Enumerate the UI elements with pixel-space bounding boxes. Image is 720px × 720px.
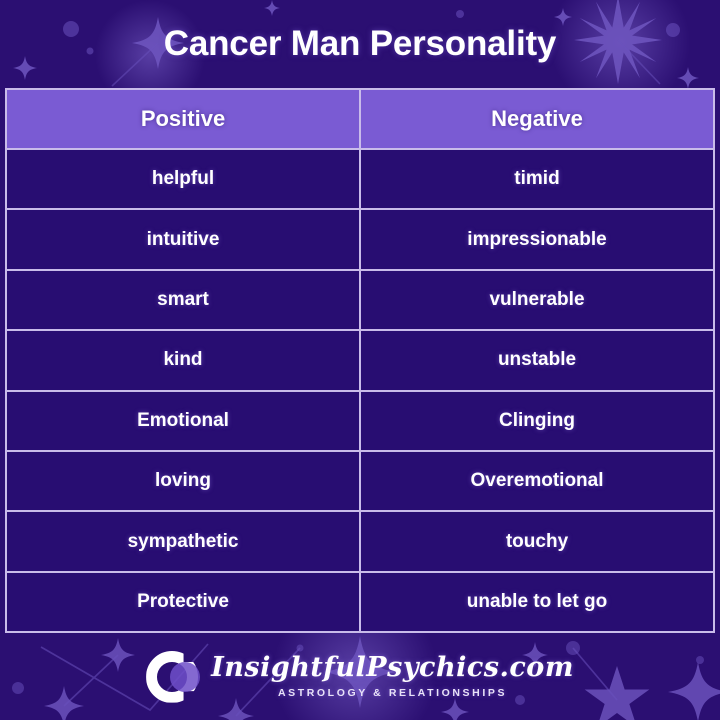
brand-wordmark: InsightfulPsychics.com xyxy=(211,654,574,681)
table-row: loving Overemotional xyxy=(6,451,714,511)
cell-positive: smart xyxy=(6,270,360,330)
cell-positive: kind xyxy=(6,330,360,390)
cell-positive: Emotional xyxy=(6,391,360,451)
infographic-root: Cancer Man Personality Positive Negative… xyxy=(0,0,720,720)
crescent-ring-logo-icon xyxy=(146,651,198,703)
table-row: Emotional Clinging xyxy=(6,391,714,451)
cell-positive: helpful xyxy=(6,149,360,209)
cell-negative: touchy xyxy=(360,511,714,571)
cell-negative: unstable xyxy=(360,330,714,390)
cell-negative: Clinging xyxy=(360,391,714,451)
table-row: Protective unable to let go xyxy=(6,572,714,632)
table-header-row: Positive Negative xyxy=(6,89,714,149)
cell-positive: Protective xyxy=(6,572,360,632)
cell-negative: Overemotional xyxy=(360,451,714,511)
title-bar: Cancer Man Personality xyxy=(0,0,720,88)
cell-negative: impressionable xyxy=(360,209,714,269)
table-row: intuitive impressionable xyxy=(6,209,714,269)
table-row: kind unstable xyxy=(6,330,714,390)
column-header-negative: Negative xyxy=(360,89,714,149)
cell-negative: vulnerable xyxy=(360,270,714,330)
footer-branding: InsightfulPsychics.com ASTROLOGY & RELAT… xyxy=(0,633,720,720)
page-title: Cancer Man Personality xyxy=(164,24,556,64)
cell-negative: timid xyxy=(360,149,714,209)
table-container: Positive Negative helpful timid intuitiv… xyxy=(0,88,720,633)
brand-tagline: ASTROLOGY & RELATIONSHIPS xyxy=(278,688,507,699)
table-head: Positive Negative xyxy=(6,89,714,149)
table-body: helpful timid intuitive impressionable s… xyxy=(6,149,714,632)
cell-negative: unable to let go xyxy=(360,572,714,632)
cell-positive: intuitive xyxy=(6,209,360,269)
logo-text-block: InsightfulPsychics.com ASTROLOGY & RELAT… xyxy=(211,654,574,699)
logo-inner-circle xyxy=(170,662,200,692)
table-row: helpful timid xyxy=(6,149,714,209)
cell-positive: sympathetic xyxy=(6,511,360,571)
table-row: sympathetic touchy xyxy=(6,511,714,571)
personality-table: Positive Negative helpful timid intuitiv… xyxy=(5,88,715,633)
column-header-positive: Positive xyxy=(6,89,360,149)
table-row: smart vulnerable xyxy=(6,270,714,330)
cell-positive: loving xyxy=(6,451,360,511)
